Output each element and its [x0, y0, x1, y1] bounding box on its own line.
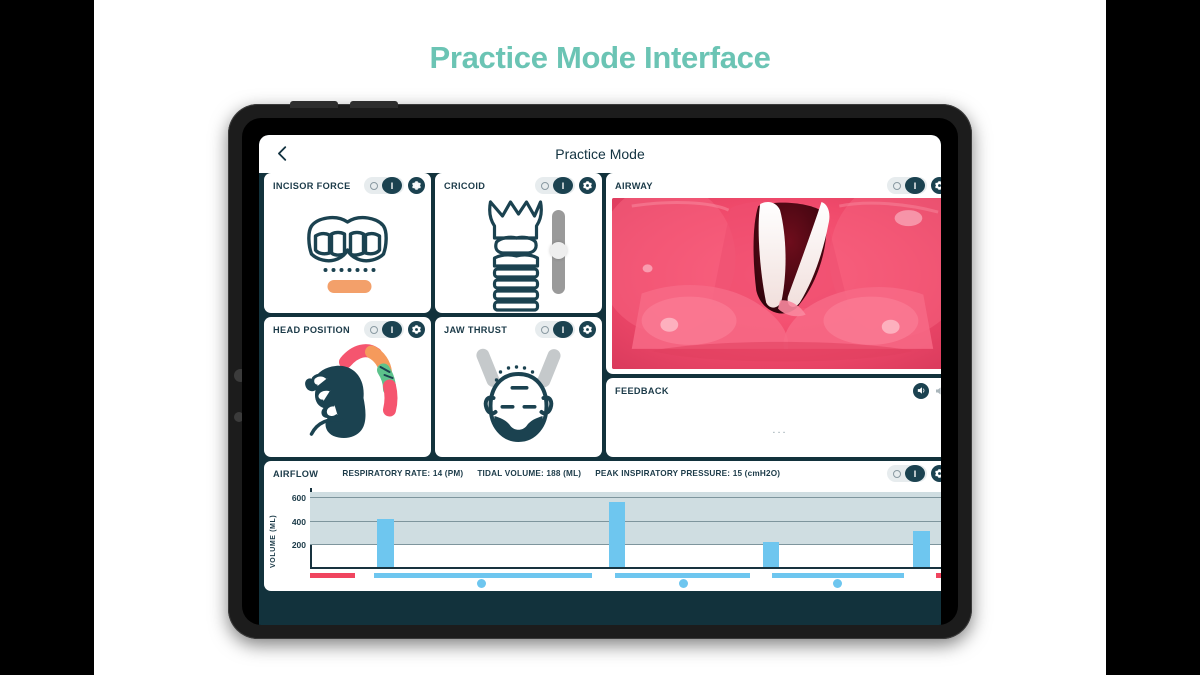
chart-bar — [377, 519, 394, 568]
tablet-top-button-1[interactable] — [290, 101, 338, 108]
chart-bar — [609, 502, 626, 567]
app-header: Practice Mode — [259, 135, 941, 173]
panel-header: HEAD POSITION I — [264, 317, 431, 342]
panel-controls: I — [887, 465, 941, 482]
toggle-off-icon — [888, 466, 905, 481]
chart-status-segment — [936, 573, 941, 578]
laryngoscopy-view — [612, 198, 941, 369]
feedback-message: ... — [606, 403, 941, 457]
toggle-off-icon — [536, 178, 553, 193]
toggle-off-icon — [888, 178, 905, 193]
tablet-device: Practice Mode INCISOR FORCE I — [228, 104, 972, 639]
chart-gridline — [310, 497, 941, 498]
toggle-on-label: I — [553, 321, 573, 338]
panel-controls: I — [535, 177, 596, 194]
tablet-screen: Practice Mode INCISOR FORCE I — [259, 135, 941, 625]
speaker-mute-glyph — [934, 385, 941, 397]
airflow-chart: VOLUME (ML) 200400600 — [264, 486, 941, 591]
panel-title: INCISOR FORCE — [273, 181, 351, 191]
panel-header: CRICOID I — [435, 173, 602, 198]
head-front-hands-icon — [435, 342, 602, 457]
gear-icon[interactable] — [931, 177, 941, 194]
panel-title: JAW THRUST — [444, 325, 507, 335]
chart-y-tick: 600 — [272, 493, 306, 503]
gear-glyph — [411, 324, 422, 335]
panel-feedback[interactable]: FEEDBACK — [606, 378, 941, 457]
panel-header: AIRWAY I — [606, 173, 941, 198]
gear-glyph — [411, 180, 422, 191]
metric-peak-inspiratory-pressure: PEAK INSPIRATORY PRESSURE: 15 (cmH2O) — [595, 469, 780, 478]
chart-x-axis — [310, 567, 941, 569]
screenshot-root: Practice Mode Interface Practice Mode — [0, 0, 1200, 675]
gear-icon[interactable] — [408, 321, 425, 338]
power-toggle[interactable]: I — [535, 321, 575, 338]
slider-knob[interactable] — [550, 242, 567, 259]
page-title: Practice Mode Interface — [94, 40, 1106, 76]
power-toggle[interactable]: I — [364, 321, 404, 338]
panel-cricoid[interactable]: CRICOID I — [435, 173, 602, 313]
gear-glyph — [934, 180, 941, 191]
chart-y-tick: 400 — [272, 517, 306, 527]
airflow-metrics: RESPIRATORY RATE: 14 (PM) TIDAL VOLUME: … — [342, 469, 780, 478]
chart-status-segment — [374, 573, 592, 578]
feedback-audio-controls — [913, 383, 941, 399]
gear-glyph — [582, 180, 593, 191]
panel-controls: I — [535, 321, 596, 338]
toggle-off-icon — [536, 322, 553, 337]
power-toggle[interactable]: I — [887, 465, 927, 482]
trachea-icon — [435, 198, 602, 313]
gear-glyph — [582, 324, 593, 335]
chart-gridline — [310, 544, 941, 545]
gear-glyph — [934, 468, 941, 479]
panel-airflow[interactable]: AIRFLOW RESPIRATORY RATE: 14 (PM) TIDAL … — [264, 461, 941, 591]
power-toggle[interactable]: I — [364, 177, 404, 194]
panel-airway[interactable]: AIRWAY I — [606, 173, 941, 374]
metric-tidal-volume: TIDAL VOLUME: 188 (ML) — [477, 469, 581, 478]
panel-title: AIRFLOW — [273, 469, 318, 479]
power-toggle[interactable]: I — [535, 177, 575, 194]
chevron-left-icon[interactable] — [273, 144, 292, 163]
panel-header: FEEDBACK — [606, 378, 941, 403]
speaker-on-icon[interactable] — [913, 383, 929, 399]
chart-bar — [913, 531, 930, 568]
gear-icon[interactable] — [408, 177, 425, 194]
app-title: Practice Mode — [259, 146, 941, 162]
chart-bar — [763, 542, 780, 567]
toggle-on-label: I — [553, 177, 573, 194]
toggle-on-label: I — [382, 321, 402, 338]
toggle-on-label: I — [905, 177, 925, 194]
panel-title: AIRWAY — [615, 181, 653, 191]
toggle-on-label: I — [905, 465, 925, 482]
panel-controls: I — [364, 177, 425, 194]
speaker-on-glyph — [916, 385, 927, 396]
panel-head-position[interactable]: HEAD POSITION I — [264, 317, 431, 457]
chart-status-segment — [615, 573, 750, 578]
gear-icon[interactable] — [931, 465, 941, 482]
panel-incisor-force[interactable]: INCISOR FORCE I — [264, 173, 431, 313]
toggle-off-icon — [365, 178, 382, 193]
cricoid-pressure-slider[interactable] — [552, 210, 565, 294]
panel-jaw-thrust[interactable]: JAW THRUST I — [435, 317, 602, 457]
panel-title: CRICOID — [444, 181, 485, 191]
metric-respiratory-rate: RESPIRATORY RATE: 14 (PM) — [342, 469, 463, 478]
head-profile-icon — [264, 342, 431, 457]
power-toggle[interactable]: I — [887, 177, 927, 194]
chart-plot-area: 200400600 — [310, 488, 941, 569]
chart-target-band — [310, 492, 941, 545]
chart-status-segment — [310, 573, 355, 578]
panel-header: AIRFLOW RESPIRATORY RATE: 14 (PM) TIDAL … — [264, 461, 941, 486]
chart-status-segment — [772, 573, 904, 578]
dashboard-grid: INCISOR FORCE I — [259, 173, 941, 625]
gear-icon[interactable] — [579, 177, 596, 194]
gear-icon[interactable] — [579, 321, 596, 338]
chart-breath-marker — [679, 579, 688, 588]
tablet-top-button-2[interactable] — [350, 101, 398, 108]
toggle-on-label: I — [382, 177, 402, 194]
chart-breath-marker — [477, 579, 486, 588]
upper-teeth-icon — [264, 198, 431, 313]
panel-header: JAW THRUST I — [435, 317, 602, 342]
chart-breath-marker — [833, 579, 842, 588]
panel-title: HEAD POSITION — [273, 325, 350, 335]
panel-header: INCISOR FORCE I — [264, 173, 431, 198]
panel-controls: I — [364, 321, 425, 338]
panel-controls: I — [887, 177, 941, 194]
toggle-off-icon — [365, 322, 382, 337]
panel-title: FEEDBACK — [615, 386, 669, 396]
chart-gridline — [310, 521, 941, 522]
chart-y-tick: 200 — [272, 540, 306, 550]
speaker-mute-icon[interactable] — [932, 383, 941, 399]
tablet-bezel: Practice Mode INCISOR FORCE I — [242, 118, 958, 625]
